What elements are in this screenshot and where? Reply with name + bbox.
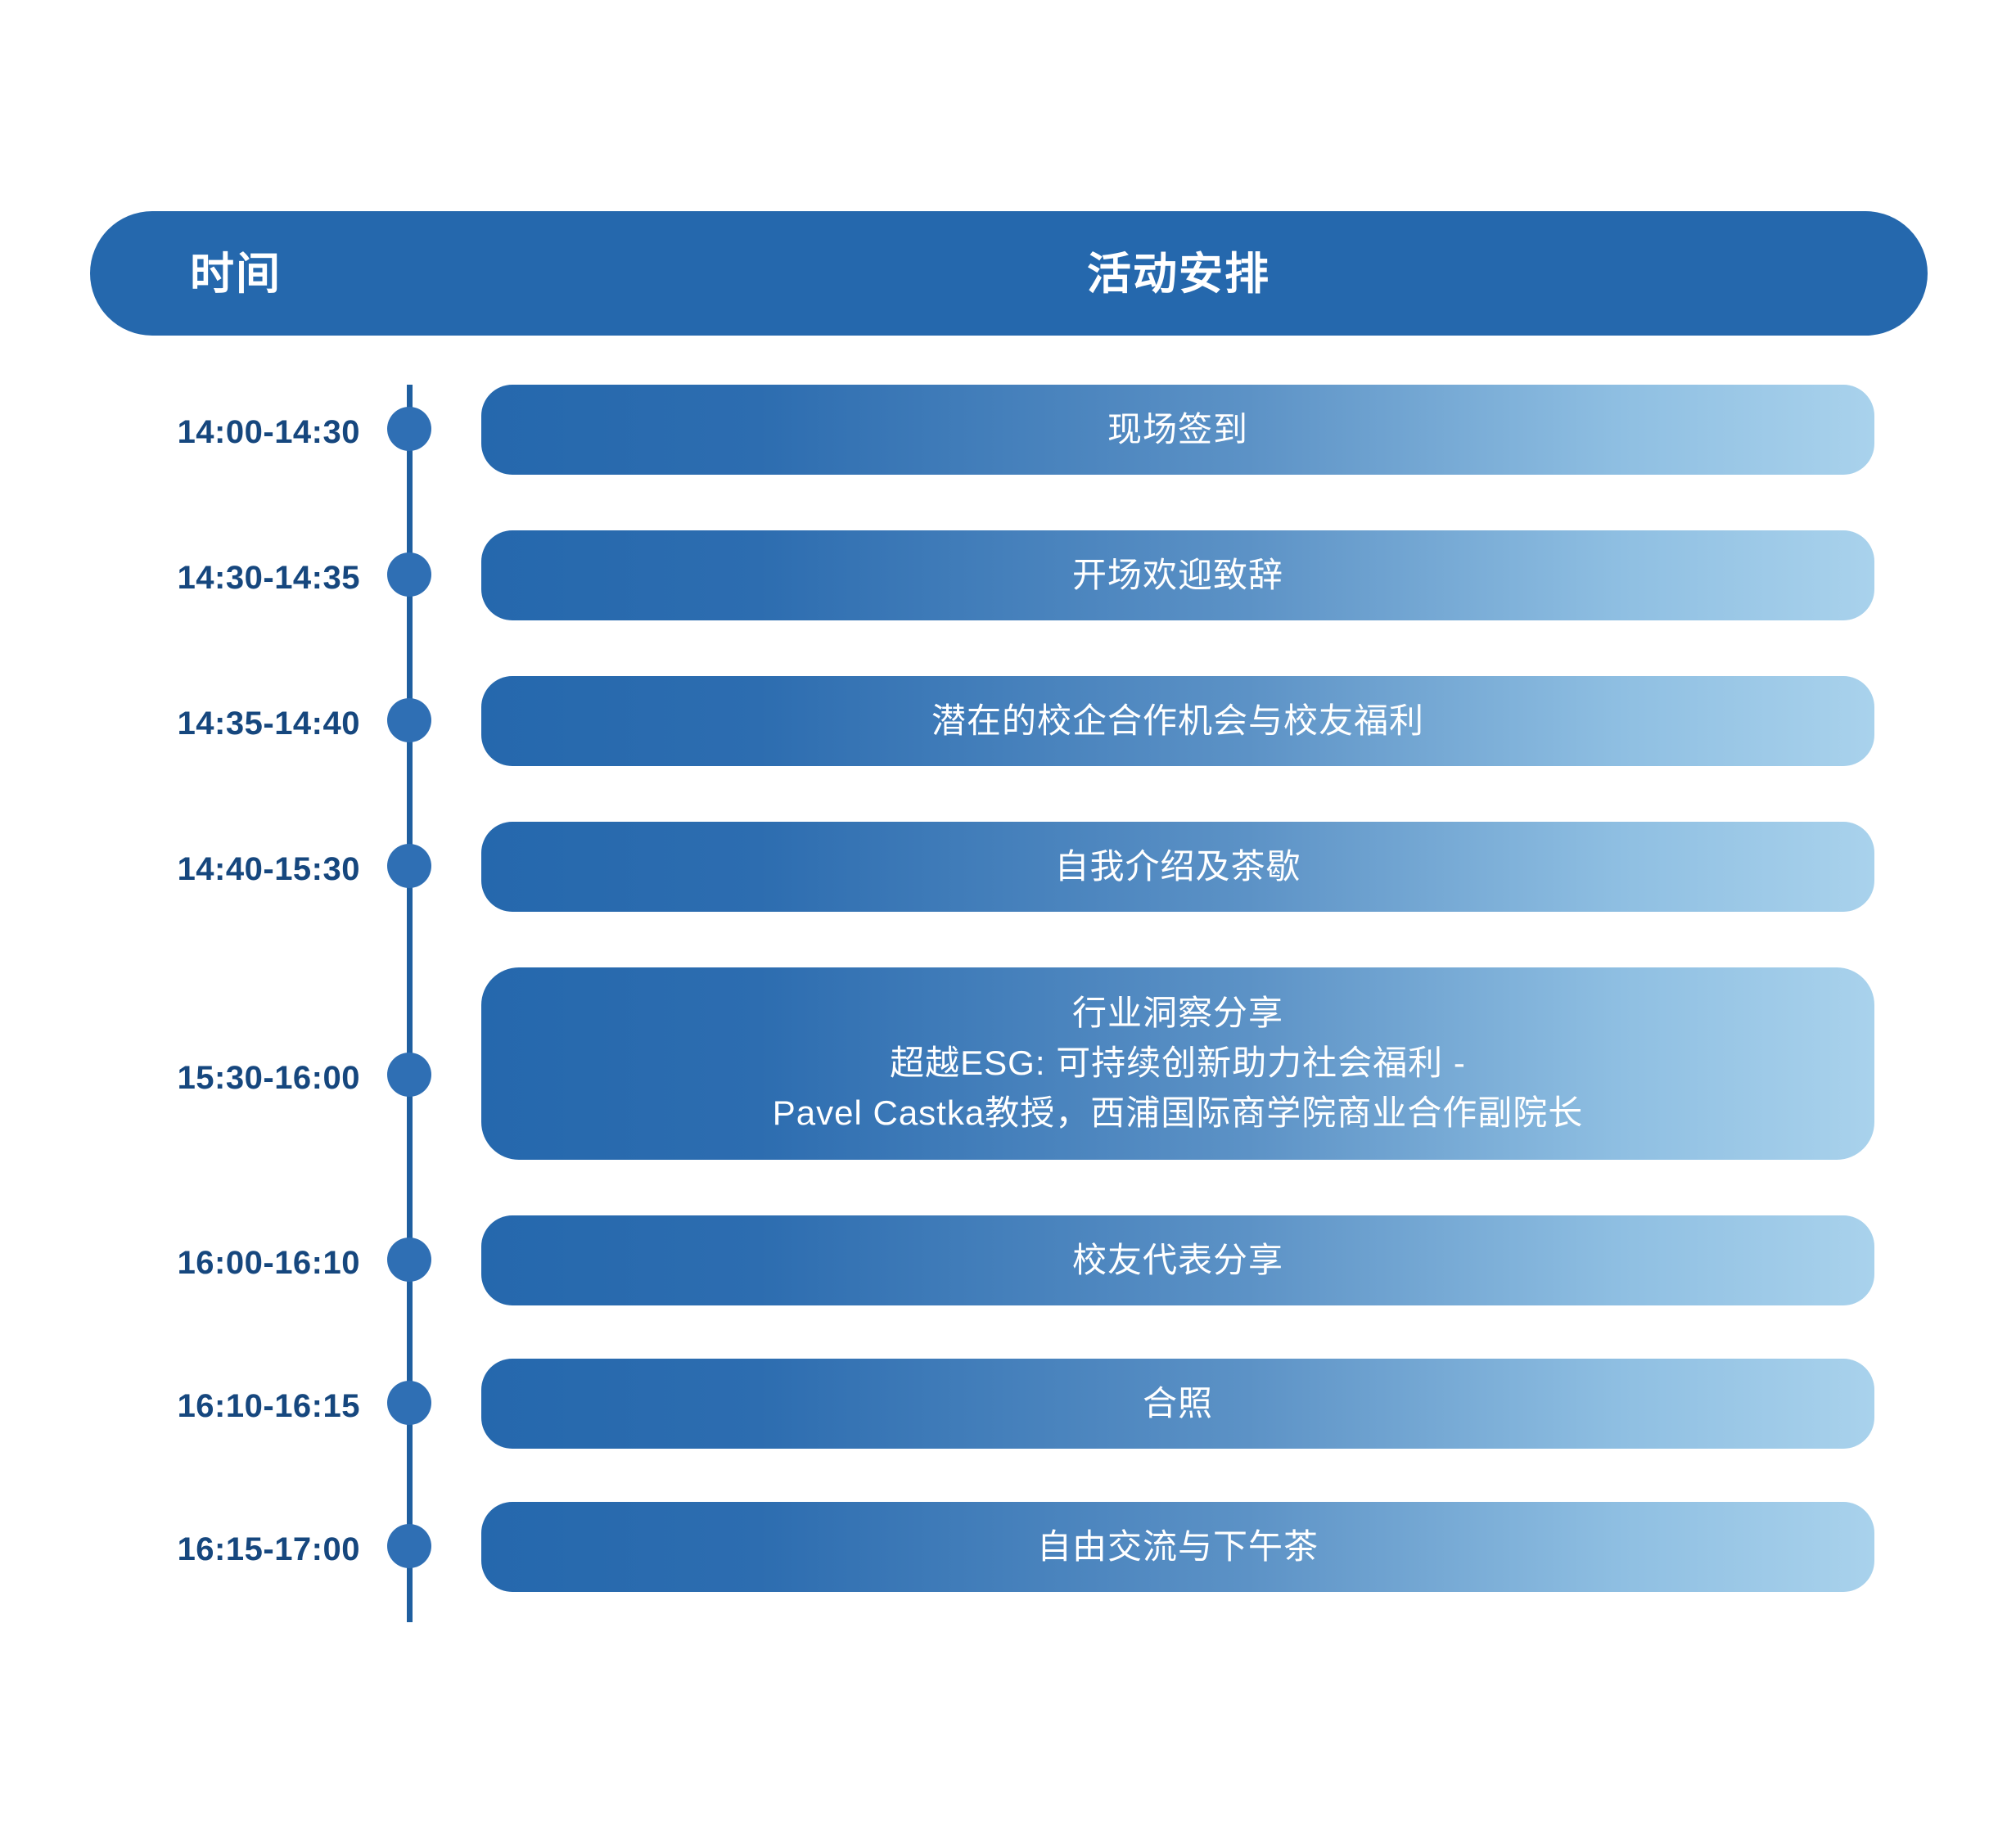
schedule-timeline: 时间 活动安排 14:00-14:30 现场签到 14:30-14:35 开场欢… bbox=[0, 0, 2016, 1835]
row-time-label: 16:00-16:10 bbox=[33, 1245, 360, 1282]
timeline-dot bbox=[387, 552, 431, 597]
timeline-dot bbox=[387, 1238, 431, 1282]
activity-pill[interactable]: 自由交流与下午茶 bbox=[481, 1502, 1874, 1592]
header-activity-label: 活动安排 bbox=[483, 252, 1874, 296]
activity-label: 潜在的校企合作机会与校友福利 bbox=[899, 697, 1457, 746]
activity-pill[interactable]: 行业洞察分享 超越ESG: 可持续创新助力社会福利 - Pavel Castka… bbox=[481, 967, 1874, 1160]
header-time-label: 时间 bbox=[190, 252, 282, 296]
activity-pill[interactable]: 现场签到 bbox=[481, 385, 1874, 475]
timeline-dot bbox=[387, 844, 431, 888]
activity-label: 自我介绍及茶歇 bbox=[1022, 842, 1333, 892]
activity-label: 自由交流与下午茶 bbox=[1004, 1522, 1351, 1572]
timeline-dot bbox=[387, 698, 431, 742]
activity-pill[interactable]: 合照 bbox=[481, 1359, 1874, 1449]
activity-label: 校友代表分享 bbox=[1040, 1236, 1316, 1286]
activity-pill[interactable]: 潜在的校企合作机会与校友福利 bbox=[481, 676, 1874, 766]
timeline-dot bbox=[387, 407, 431, 451]
timeline-dot bbox=[387, 1381, 431, 1425]
row-time-label: 14:40-15:30 bbox=[33, 851, 360, 888]
activity-pill[interactable]: 自我介绍及茶歇 bbox=[481, 822, 1874, 912]
timeline-dot bbox=[387, 1053, 431, 1097]
activity-label: 开场欢迎致辞 bbox=[1040, 551, 1316, 601]
activity-label: 行业洞察分享 超越ESG: 可持续创新助力社会福利 - Pavel Castka… bbox=[740, 989, 1616, 1138]
activity-pill[interactable]: 开场欢迎致辞 bbox=[481, 530, 1874, 620]
row-time-label: 14:00-14:30 bbox=[33, 414, 360, 451]
schedule-header-bar: 时间 活动安排 bbox=[90, 211, 1928, 336]
activity-label: 现场签到 bbox=[1075, 405, 1281, 455]
row-time-label: 16:10-16:15 bbox=[33, 1388, 360, 1425]
timeline-dot bbox=[387, 1524, 431, 1568]
activity-label: 合照 bbox=[1110, 1379, 1246, 1429]
row-time-label: 15:30-16:00 bbox=[33, 1060, 360, 1097]
activity-pill[interactable]: 校友代表分享 bbox=[481, 1215, 1874, 1305]
row-time-label: 14:30-14:35 bbox=[33, 560, 360, 597]
row-time-label: 16:15-17:00 bbox=[33, 1531, 360, 1568]
row-time-label: 14:35-14:40 bbox=[33, 706, 360, 742]
